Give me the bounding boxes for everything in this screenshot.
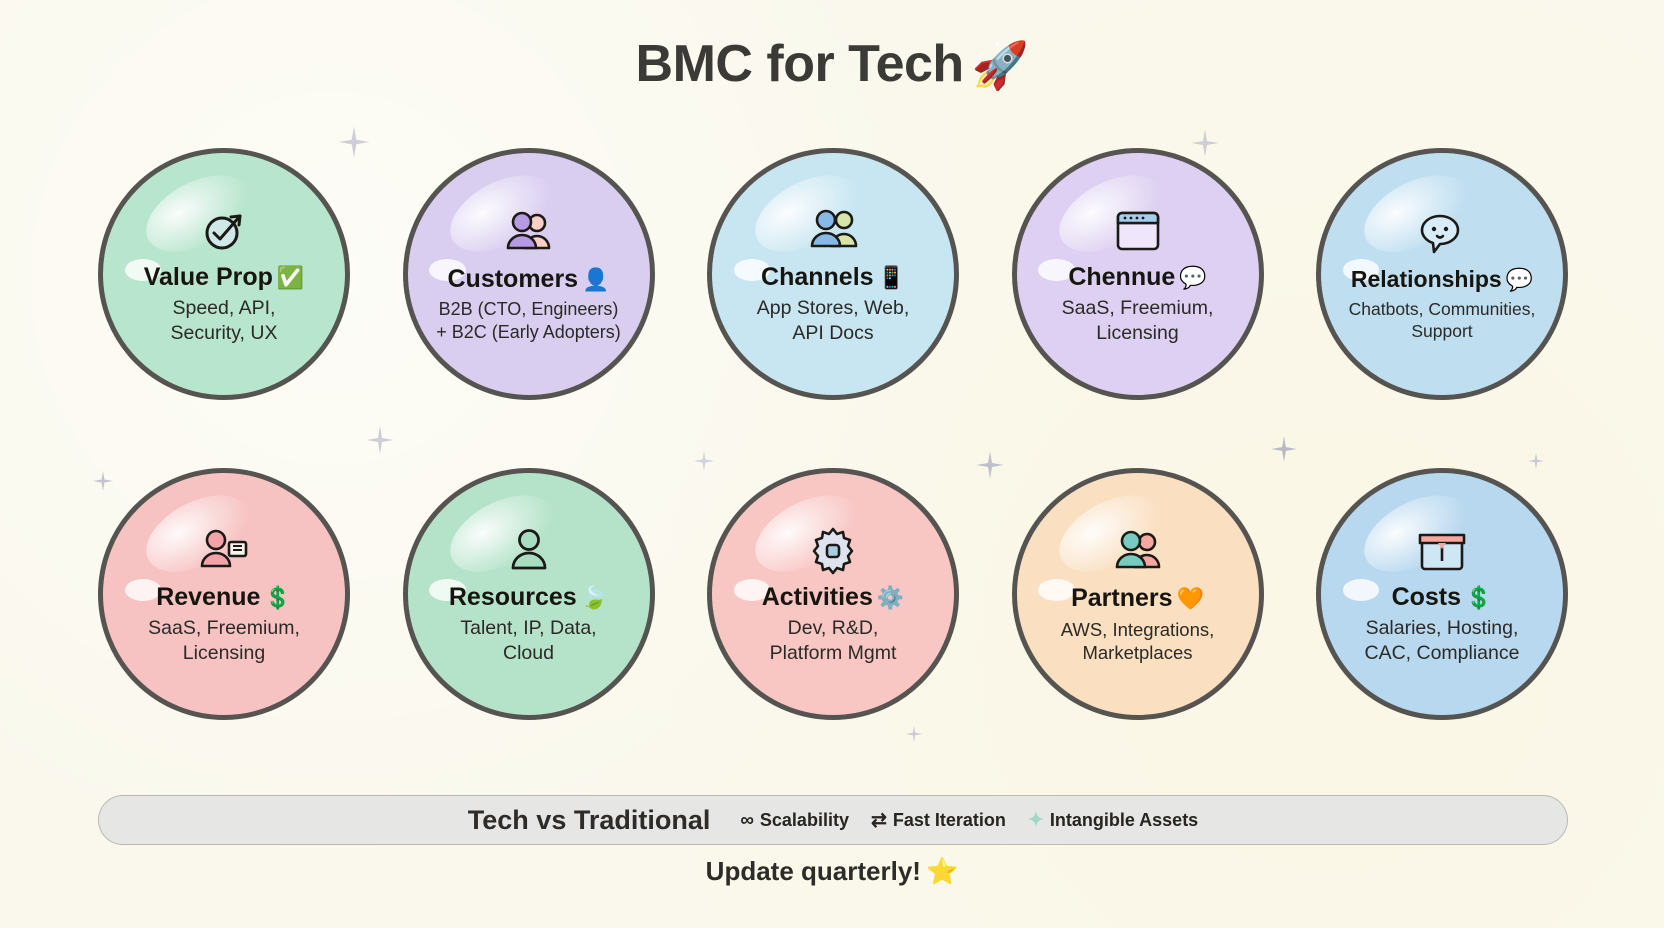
bubble-desc: AWS, Integrations, Marketplaces — [1061, 618, 1215, 665]
sparkle-icon — [1270, 435, 1298, 463]
speech-bubble-emoji: 💬 — [1179, 265, 1206, 290]
sparkle-icon: ✦ — [1028, 811, 1044, 830]
bubble-costs[interactable]: Costs💲 Salaries, Hosting, CAC, Complianc… — [1316, 468, 1568, 720]
rocket-icon: 🚀 — [972, 39, 1029, 91]
open-box-icon — [1416, 522, 1468, 580]
bubble-desc: App Stores, Web, API Docs — [757, 296, 909, 346]
person-icon — [505, 522, 553, 580]
sparkle-icon — [905, 725, 923, 743]
footer-bar-title: Tech vs Traditional — [468, 805, 711, 836]
leaf-emoji: 🍃 — [581, 585, 608, 610]
footer-tag-label: Intangible Assets — [1050, 810, 1198, 831]
bubble-desc: B2B (CTO, Engineers) + B2C (Early Adopte… — [436, 298, 621, 344]
bubble-title: Costs💲 — [1392, 584, 1493, 612]
footer-tag-list: ∞ Scalability ⇄ Fast Iteration ✦ Intangi… — [740, 810, 1198, 831]
sparkle-icon — [365, 425, 395, 455]
bubble-chennue[interactable]: Chennue💬 SaaS, Freemium, Licensing — [1012, 148, 1264, 400]
bubble-title: Customers👤 — [448, 266, 610, 294]
partners-people-icon — [1110, 523, 1166, 581]
bubble-value-prop[interactable]: Value Prop✅ Speed, API, Security, UX — [98, 148, 350, 400]
person-money-icon — [196, 522, 252, 580]
bubble-desc: SaaS, Freemium, Licensing — [1062, 296, 1214, 346]
gear-emoji: ⚙️ — [877, 585, 904, 610]
money-emoji: 💲 — [1465, 585, 1492, 610]
bubble-title: Partners🧡 — [1071, 585, 1204, 613]
footer-tag-scalability[interactable]: ∞ Scalability — [740, 810, 849, 831]
check-emoji: ✅ — [277, 265, 304, 290]
person-emoji: 👤 — [582, 267, 609, 292]
footer-tag-label: Fast Iteration — [893, 810, 1006, 831]
bubble-desc: Chatbots, Communities, Support — [1349, 298, 1536, 343]
page-title-text: BMC for Tech — [636, 35, 964, 93]
bubble-desc: Talent, IP, Data, Cloud — [460, 616, 596, 666]
speech-bubble-emoji: 💬 — [1506, 267, 1533, 292]
bubble-desc: Dev, R&D, Platform Mgmt — [770, 616, 897, 666]
refresh-icon: ⇄ — [871, 811, 887, 830]
bubble-row-bottom: Revenue💲 SaaS, Freemium, Licensing Resou… — [98, 468, 1568, 720]
bubble-title: Chennue💬 — [1068, 264, 1206, 292]
bubble-relationships[interactable]: Relationships💬 Chatbots, Communities, Su… — [1316, 148, 1568, 400]
paper-texture — [0, 0, 1664, 928]
bubble-resources[interactable]: Resources🍃 Talent, IP, Data, Cloud — [403, 468, 655, 720]
bubble-row-top: Value Prop✅ Speed, API, Security, UX Cus… — [98, 148, 1568, 400]
page-title: BMC for Tech🚀 — [0, 34, 1664, 94]
people-group-icon — [804, 202, 862, 260]
phone-emoji: 📱 — [878, 265, 905, 290]
footer-note-text: Update quarterly! — [706, 856, 921, 886]
bubble-channels[interactable]: Channels📱 App Stores, Web, API Docs — [707, 148, 959, 400]
two-people-icon — [501, 204, 557, 262]
footer-tag-label: Scalability — [760, 810, 849, 831]
gear-icon — [806, 522, 860, 580]
bubble-title: Relationships💬 — [1351, 267, 1533, 292]
heart-emoji: 🧡 — [1177, 586, 1204, 611]
bubble-title: Activities⚙️ — [762, 584, 905, 612]
check-circle-arrow-icon — [198, 202, 250, 260]
money-emoji: 💲 — [264, 585, 291, 610]
footer-bar: Tech vs Traditional ∞ Scalability ⇄ Fast… — [98, 795, 1568, 845]
bubble-desc: Speed, API, Security, UX — [171, 296, 278, 346]
bubble-desc: Salaries, Hosting, CAC, Compliance — [1365, 616, 1520, 666]
bubble-title: Channels📱 — [761, 264, 905, 292]
bubble-revenue[interactable]: Revenue💲 SaaS, Freemium, Licensing — [98, 468, 350, 720]
bubble-title: Revenue💲 — [156, 584, 292, 612]
bubble-title: Value Prop✅ — [144, 264, 305, 292]
footer-tag-fast-iteration[interactable]: ⇄ Fast Iteration — [871, 810, 1006, 831]
bubble-activities[interactable]: Activities⚙️ Dev, R&D, Platform Mgmt — [707, 468, 959, 720]
footer-note: Update quarterly!⭐ — [0, 856, 1664, 887]
bubble-partners[interactable]: Partners🧡 AWS, Integrations, Marketplace… — [1012, 468, 1264, 720]
star-icon: ⭐ — [926, 856, 958, 886]
browser-window-icon — [1113, 202, 1163, 260]
footer-tag-intangible-assets[interactable]: ✦ Intangible Assets — [1028, 810, 1198, 831]
bubble-customers[interactable]: Customers👤 B2B (CTO, Engineers) + B2C (E… — [403, 148, 655, 400]
bubble-desc: SaaS, Freemium, Licensing — [148, 616, 300, 666]
infinity-icon: ∞ — [740, 811, 754, 830]
speech-bubble-face-icon — [1414, 205, 1470, 263]
bubble-title: Resources🍃 — [449, 584, 608, 612]
